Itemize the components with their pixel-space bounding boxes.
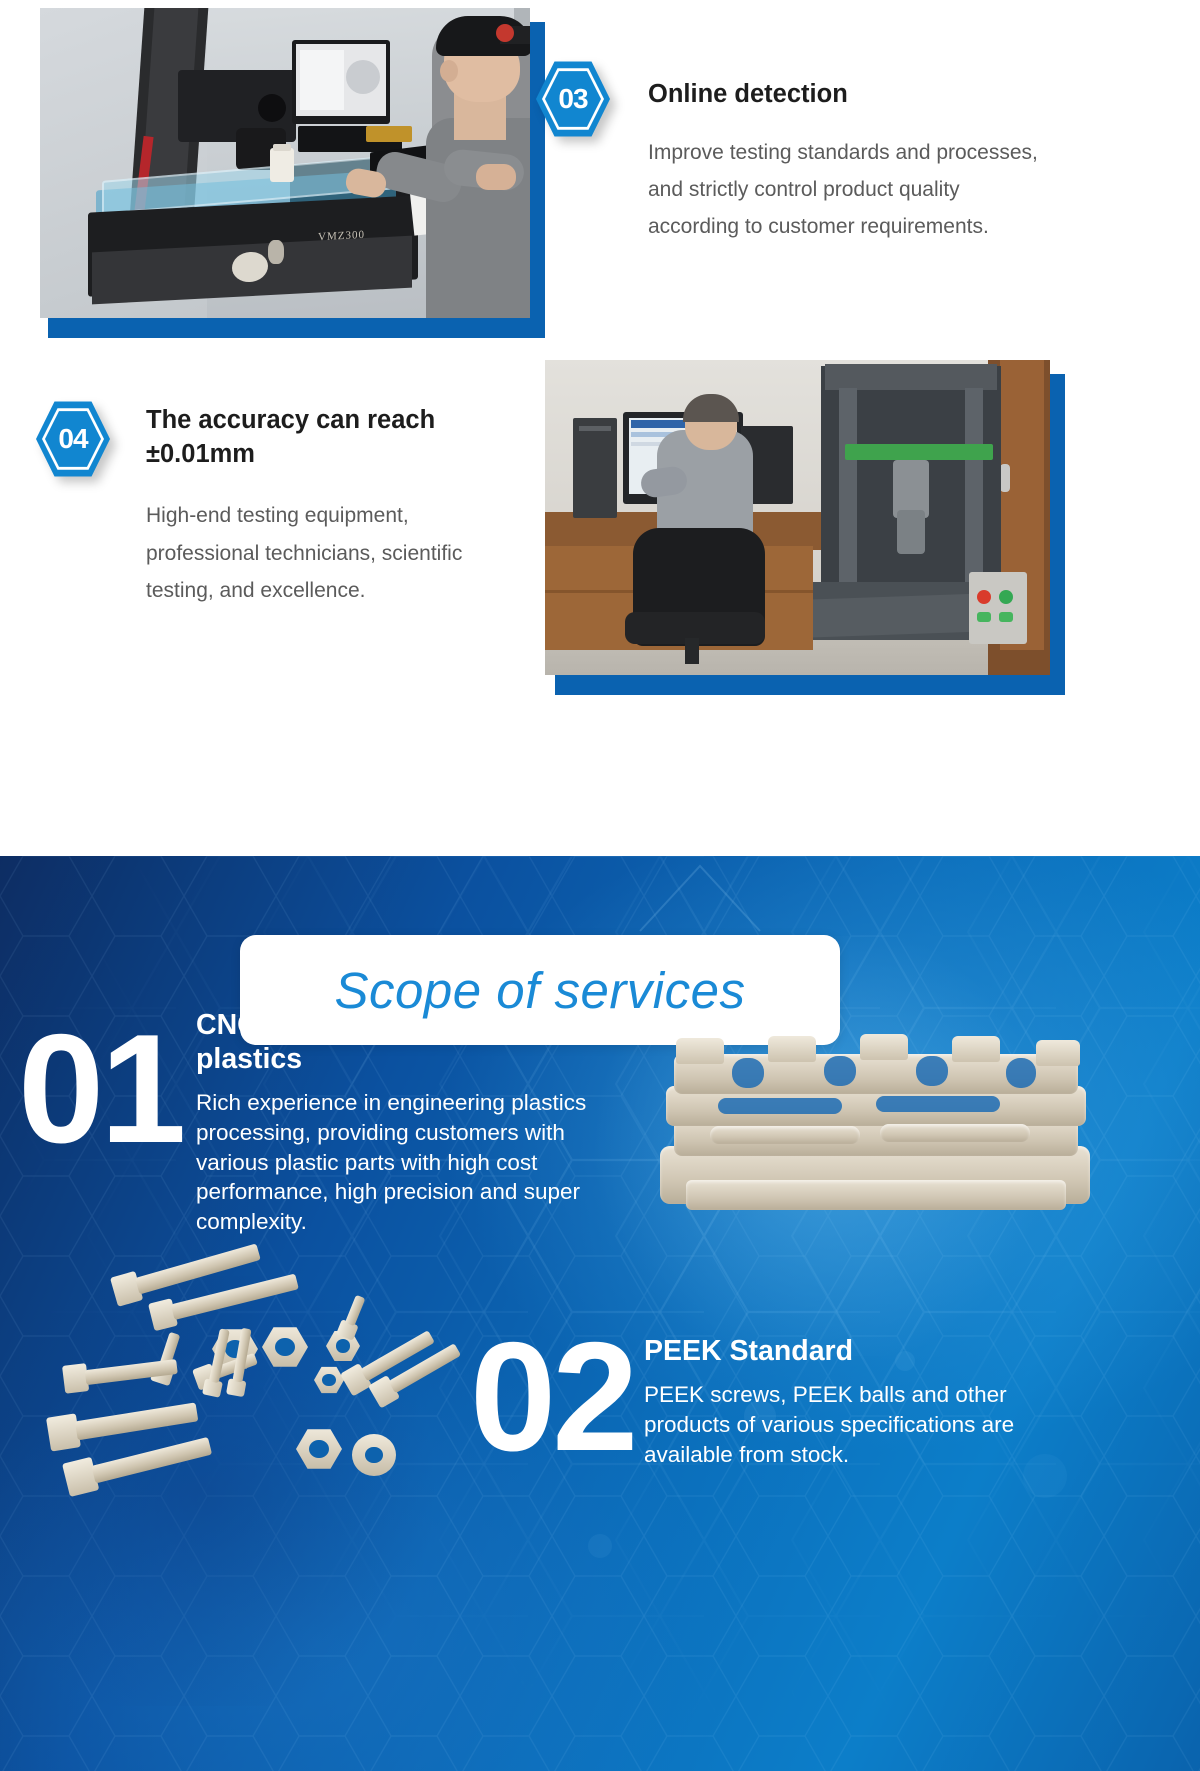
peek-chain-plate-photo — [640, 1030, 1110, 1260]
hexagon-number-badge-icon: 03 — [536, 60, 610, 138]
feature-item-04: 04 The accuracy can reach ±0.01mm High-e… — [36, 400, 536, 609]
feature-heading: Online detection — [648, 78, 1048, 112]
feature-heading: The accuracy can reach ±0.01mm — [146, 404, 526, 471]
service-heading: CNC processing of engineering plastics — [196, 1008, 636, 1076]
service-heading: PEEK Standard — [644, 1334, 1044, 1368]
feature-item-03: 03 Online detection Improve testing stan… — [536, 60, 1056, 246]
nut — [296, 1428, 342, 1470]
feature-body: High-end testing equipment, professional… — [146, 497, 526, 609]
page-root: VMZ300 03 Online detection Improve testi… — [0, 0, 1200, 1771]
vision-measuring-machine-photo-frame: VMZ300 — [40, 8, 545, 338]
universal-tensile-testing-machine-photo-frame — [545, 360, 1065, 695]
badge-number: 03 — [536, 60, 610, 138]
hexagon-number-badge-icon: 04 — [36, 400, 110, 478]
features-section: VMZ300 03 Online detection Improve testi… — [0, 0, 1200, 856]
nut — [314, 1366, 344, 1394]
service-body: PEEK screws, PEEK balls and other produc… — [644, 1380, 1044, 1469]
service-number-02: 02 — [470, 1326, 634, 1469]
service-body: Rich experience in engineering plastics … — [196, 1088, 636, 1236]
vision-measuring-machine-photo: VMZ300 — [40, 8, 530, 318]
peek-screws-nuts-photo — [40, 1268, 460, 1548]
service-block-02: PEEK Standard PEEK screws, PEEK balls an… — [644, 1334, 1044, 1469]
nut — [262, 1326, 308, 1368]
badge-number: 04 — [36, 400, 110, 478]
device-label: VMZ300 — [318, 229, 365, 243]
service-number-01: 01 — [18, 1018, 182, 1161]
service-block-01: CNC processing of engineering plastics R… — [196, 1008, 636, 1237]
universal-tensile-testing-machine-photo — [545, 360, 1050, 675]
feature-body: Improve testing standards and processes,… — [648, 134, 1048, 246]
washer — [352, 1434, 396, 1476]
